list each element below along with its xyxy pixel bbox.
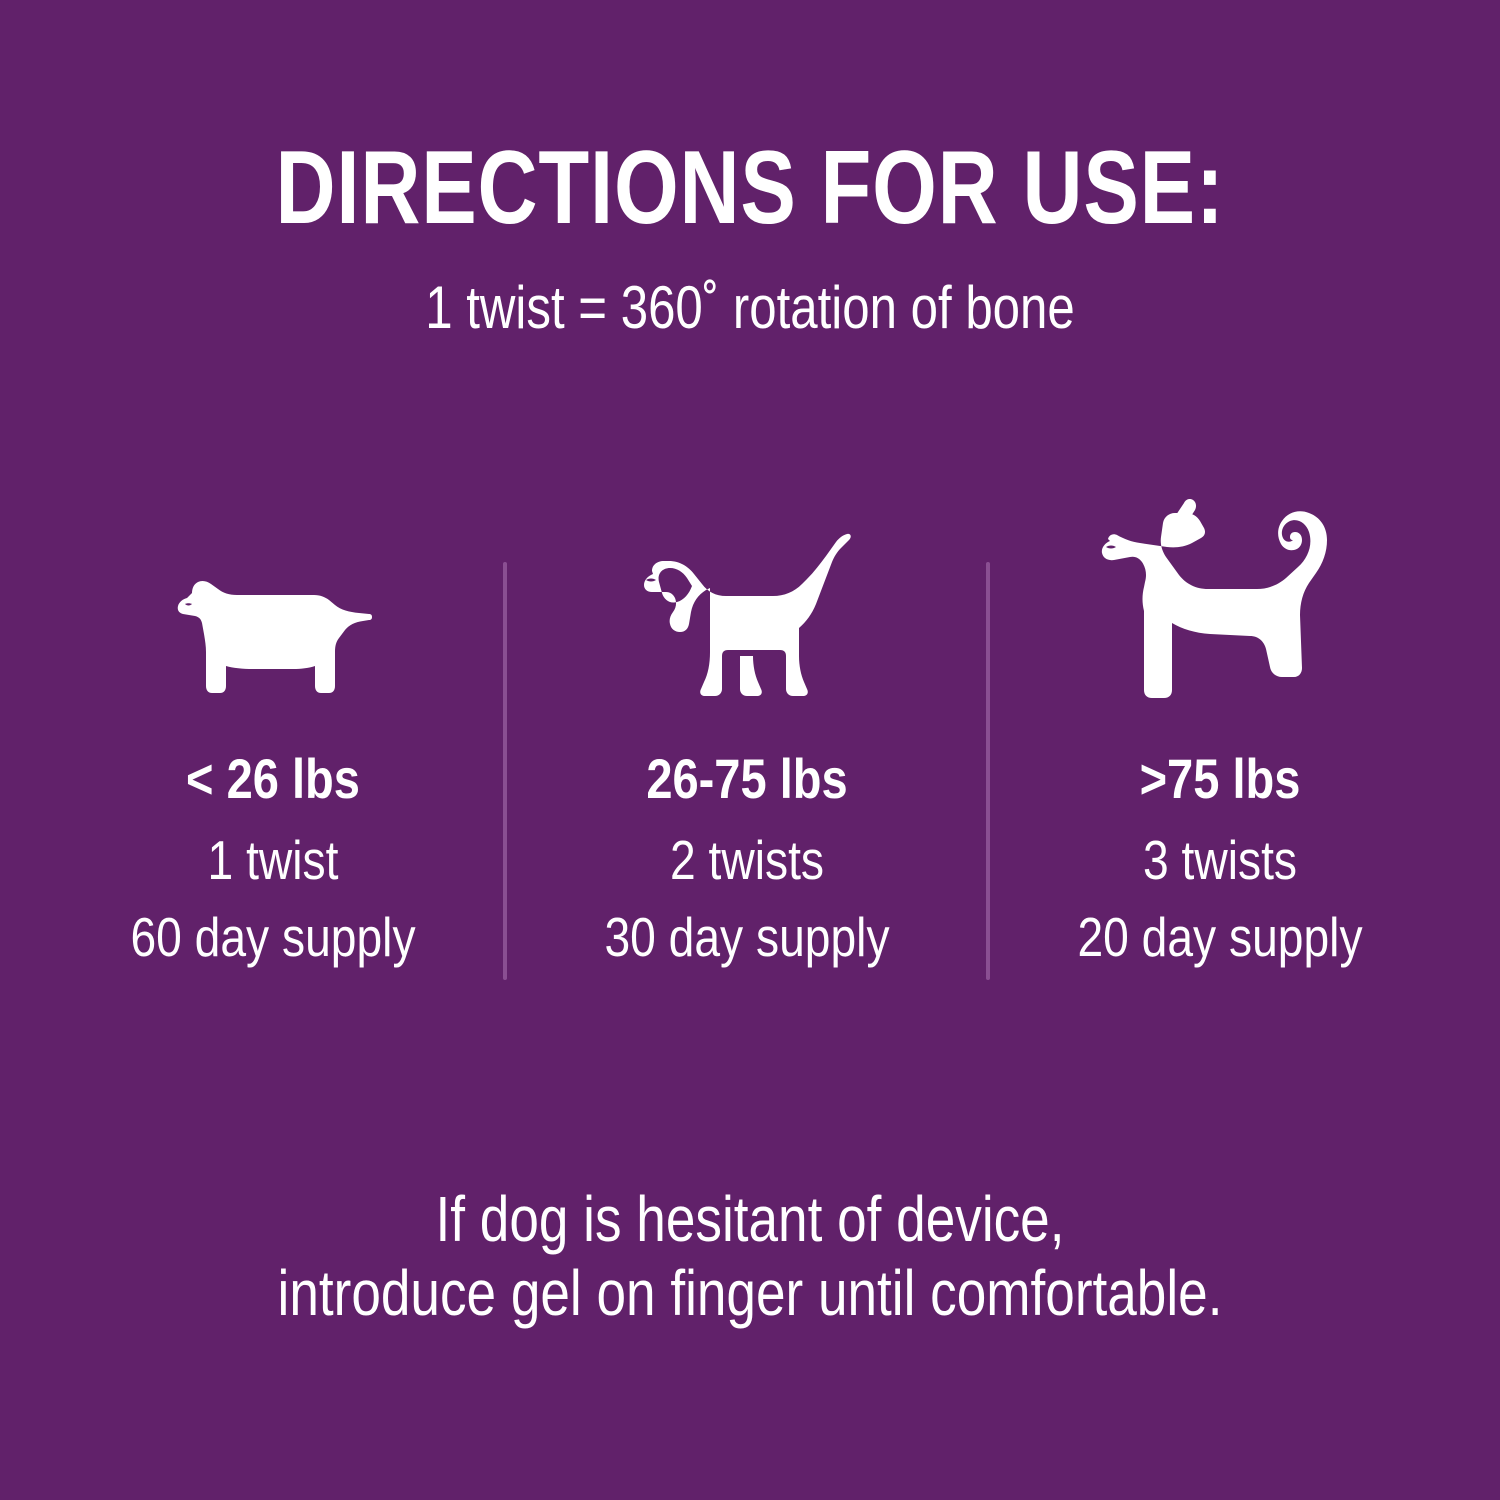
- weight-label-medium: 26-75 lbs: [562, 751, 932, 807]
- twists-label-large: 3 twists: [1035, 833, 1405, 888]
- footer-line-1: If dog is hesitant of device,: [128, 1182, 1373, 1256]
- weight-label-small: < 26 lbs: [88, 751, 458, 807]
- twists-label-medium: 2 twists: [562, 833, 932, 888]
- dosage-column-small: < 26 lbs 1 twist 60 day supply: [53, 470, 493, 990]
- supply-label-small: 60 day supply: [88, 910, 458, 965]
- dosage-column-medium: 26-75 lbs 2 twists 30 day supply: [527, 470, 967, 990]
- footer-line-2: introduce gel on finger until comfortabl…: [128, 1256, 1373, 1330]
- dosage-columns: < 26 lbs 1 twist 60 day supply 26-75 lbs…: [0, 470, 1500, 990]
- page-title: DIRECTIONS FOR USE:: [150, 136, 1350, 240]
- medium-dog-hound-icon: [527, 470, 967, 700]
- weight-label-large: >75 lbs: [1035, 751, 1405, 807]
- twists-label-small: 1 twist: [88, 833, 458, 888]
- small-dog-dachshund-icon: [53, 470, 493, 700]
- footer-note: If dog is hesitant of device, introduce …: [0, 1182, 1500, 1330]
- large-dog-icon: [1000, 470, 1440, 700]
- supply-label-large: 20 day supply: [1035, 910, 1405, 965]
- directions-for-use-panel: DIRECTIONS FOR USE: 1 twist = 360˚ rotat…: [0, 0, 1500, 1500]
- supply-label-medium: 30 day supply: [562, 910, 932, 965]
- dosage-column-large: >75 lbs 3 twists 20 day supply: [1000, 470, 1440, 990]
- page-subtitle: 1 twist = 360˚ rotation of bone: [135, 278, 1365, 338]
